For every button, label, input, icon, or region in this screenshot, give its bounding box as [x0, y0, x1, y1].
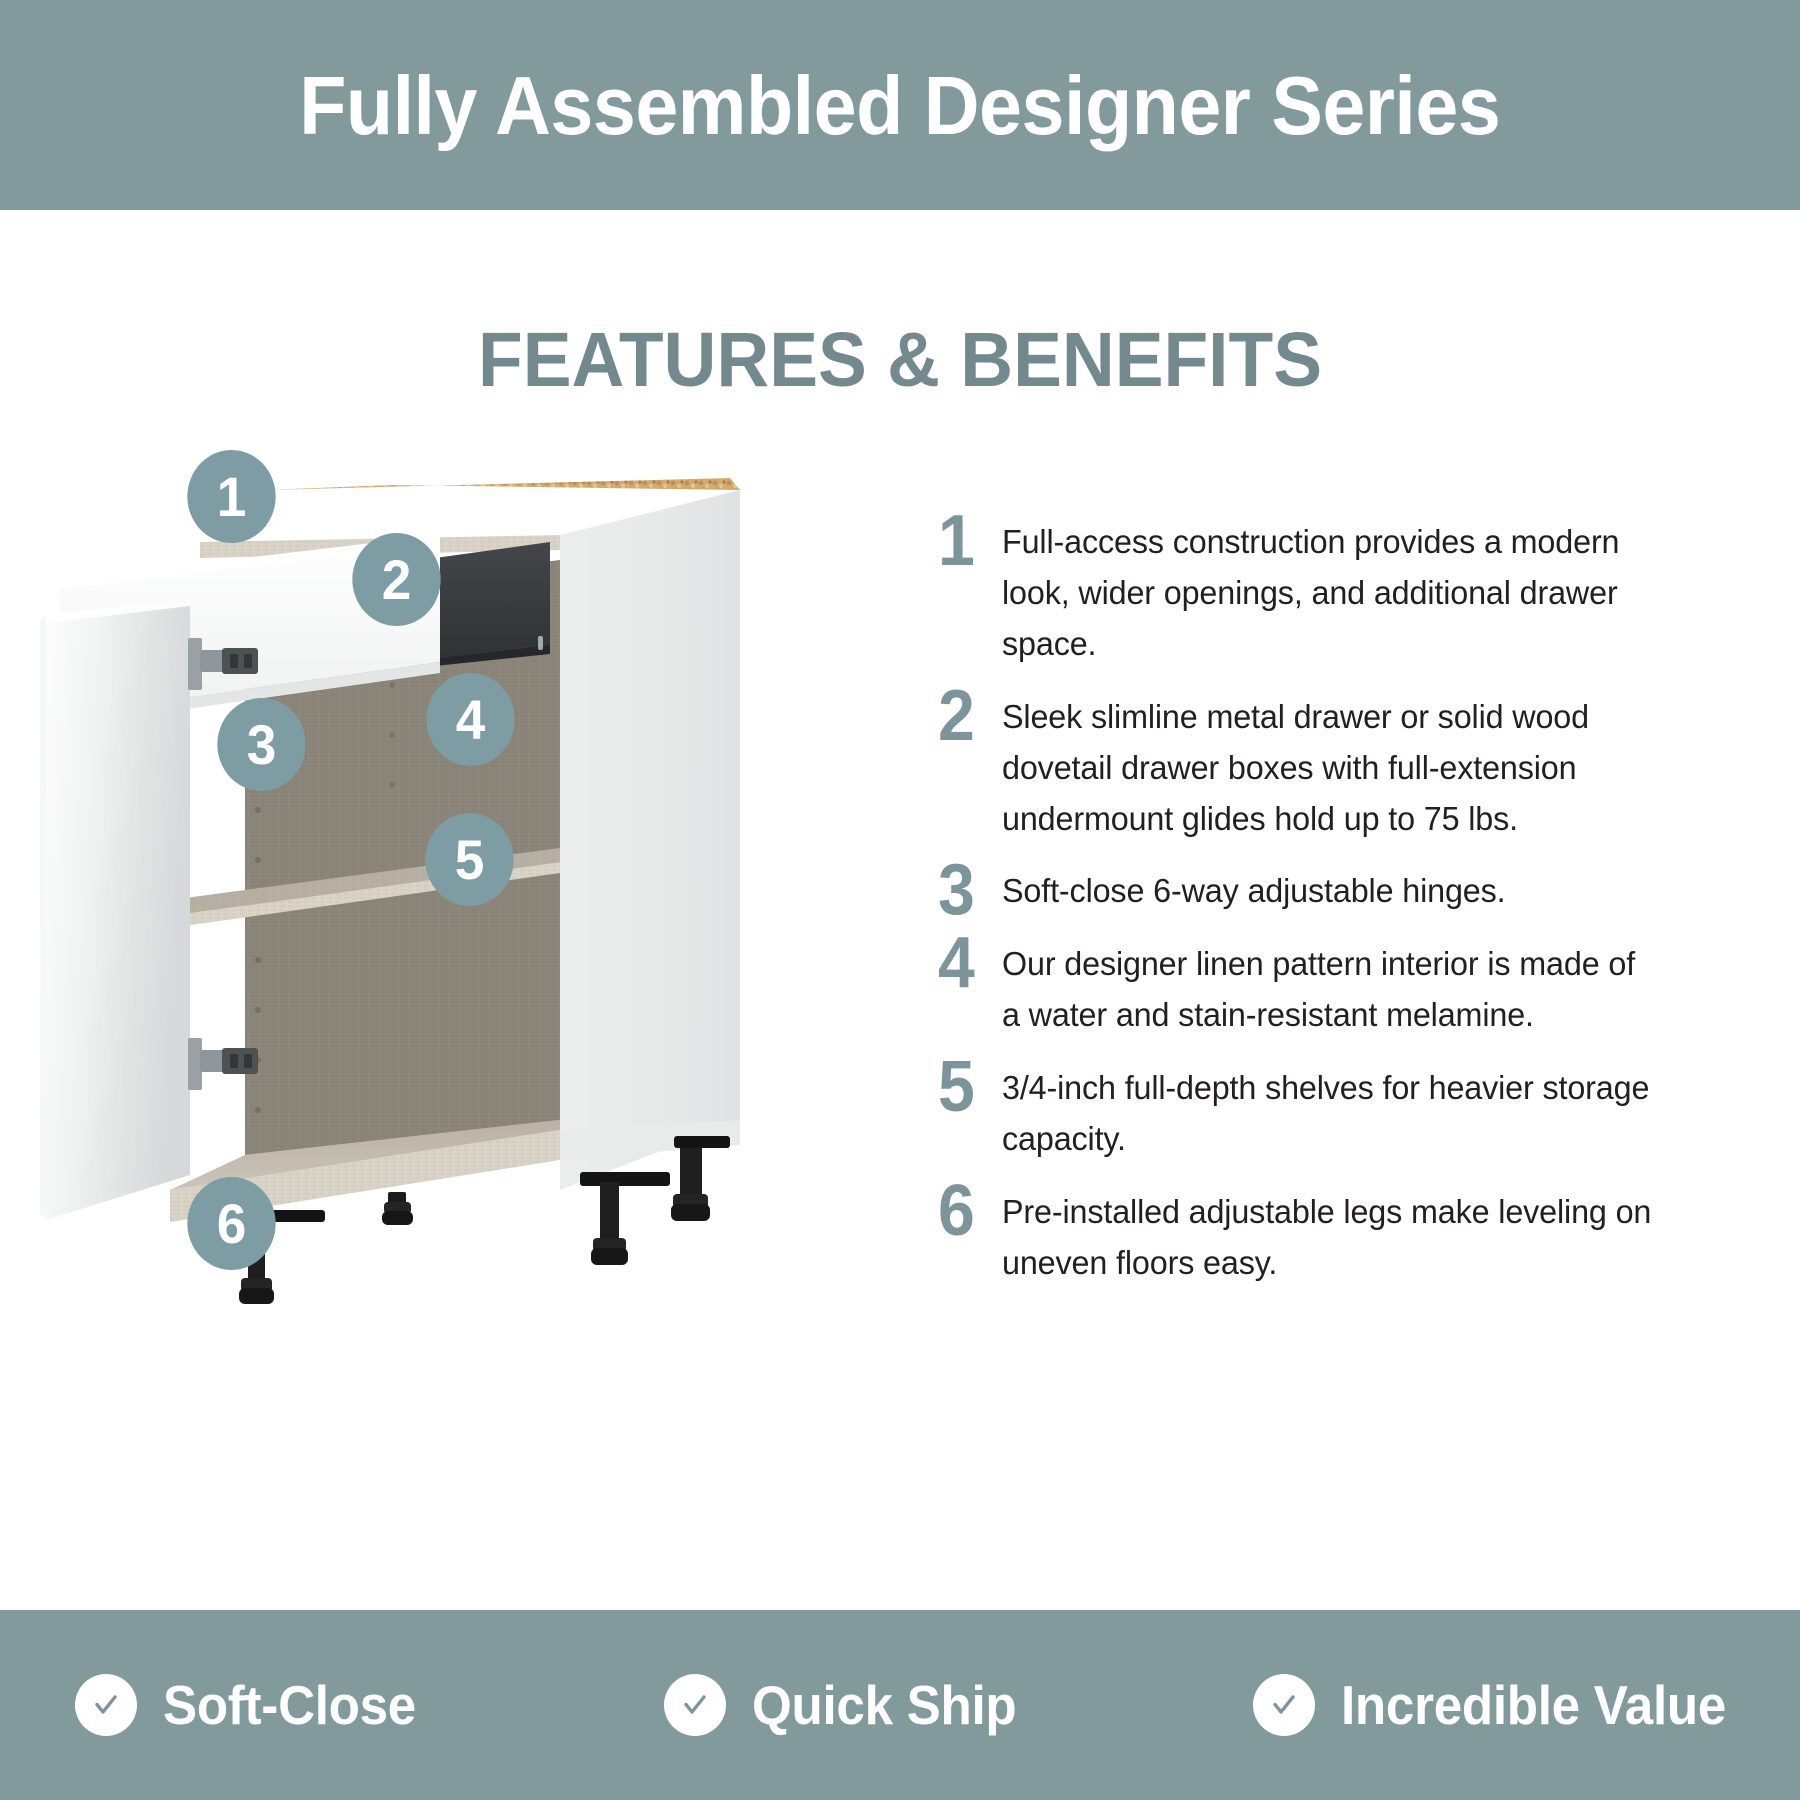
feature-number: 4: [938, 936, 997, 991]
badge-incredible-value: Incredible Value: [1211, 1674, 1800, 1736]
cabinet-door: [40, 598, 190, 1220]
callout-2: 2: [352, 533, 440, 626]
feature-item-5: 5 3/4-inch full-depth shelves for heavie…: [938, 1064, 1678, 1166]
check-circle-icon: [664, 1674, 726, 1736]
adjustable-leg-center: [382, 1192, 413, 1225]
feature-description: Our designer linen pattern interior is m…: [1002, 940, 1654, 1042]
feature-description: Full-access construction provides a mode…: [1002, 518, 1654, 671]
feature-item-1: 1 Full-access construction provides a mo…: [938, 518, 1678, 671]
header-bar: Fully Assembled Designer Series: [0, 0, 1800, 210]
badge-label: Incredible Value: [1341, 1678, 1726, 1733]
check-circle-icon: [75, 1674, 137, 1736]
feature-item-3: 3 Soft-close 6-way adjustable hinges.: [938, 867, 1678, 918]
metal-drawer-box: [435, 542, 550, 666]
callout-6: 6: [187, 1177, 275, 1270]
feature-number: 3: [938, 863, 997, 918]
feature-number: 5: [938, 1060, 997, 1115]
feature-description: 3/4-inch full-depth shelves for heavier …: [1002, 1064, 1654, 1166]
badge-soft-close: Soft-Close: [0, 1674, 622, 1736]
infographic-page: Fully Assembled Designer Series FEATURES…: [0, 0, 1800, 1800]
callout-1: 1: [187, 450, 275, 543]
feature-number: 6: [938, 1184, 997, 1239]
adjustable-leg-front-right: [580, 1172, 670, 1265]
callout-4: 4: [426, 673, 514, 766]
badge-quick-ship: Quick Ship: [622, 1674, 1211, 1736]
footer-bar: Soft-Close Quick Ship Incredible Value: [0, 1610, 1800, 1800]
feature-item-4: 4 Our designer linen pattern interior is…: [938, 940, 1678, 1042]
feature-number: 2: [938, 689, 997, 744]
check-circle-icon: [1253, 1674, 1315, 1736]
feature-description: Soft-close 6-way adjustable hinges.: [1002, 867, 1654, 918]
callout-3: 3: [217, 698, 305, 791]
cabinet-right-side-panel: [560, 490, 740, 1190]
badge-label: Quick Ship: [752, 1678, 1016, 1733]
feature-description: Sleek slimline metal drawer or solid woo…: [1002, 693, 1654, 846]
feature-item-6: 6 Pre-installed adjustable legs make lev…: [938, 1188, 1678, 1290]
feature-number: 1: [938, 514, 997, 569]
badge-label: Soft-Close: [163, 1678, 416, 1733]
feature-description: Pre-installed adjustable legs make level…: [1002, 1188, 1654, 1290]
section-title: FEATURES & BENEFITS: [45, 322, 1755, 399]
features-list: 1 Full-access construction provides a mo…: [938, 518, 1678, 1312]
page-title: Fully Assembled Designer Series: [299, 64, 1500, 147]
feature-item-2: 2 Sleek slimline metal drawer or solid w…: [938, 693, 1678, 846]
callout-5: 5: [425, 813, 513, 906]
